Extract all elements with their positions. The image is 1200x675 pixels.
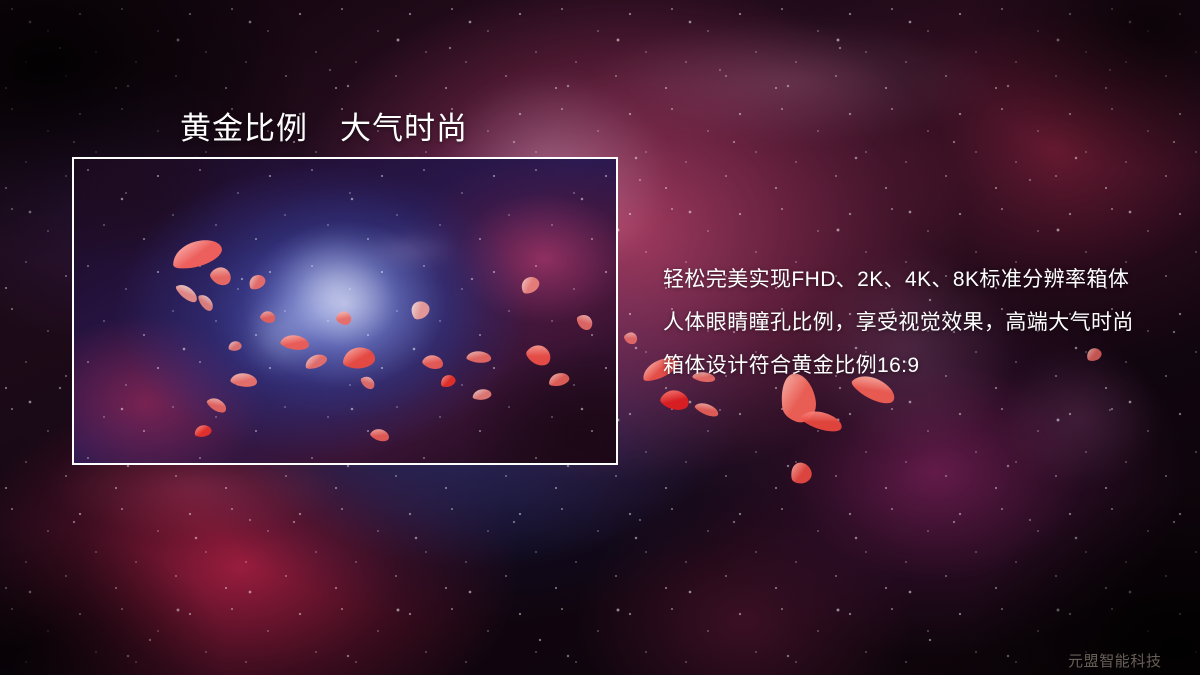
photo-content xyxy=(74,159,616,463)
watermark: 元盟智能科技 xyxy=(1068,650,1162,671)
petal xyxy=(787,459,815,487)
petal xyxy=(658,387,692,413)
petal xyxy=(798,406,845,435)
galaxy-petals-photo xyxy=(72,157,618,465)
body-line-1: 轻松完美实现FHD、2K、4K、8K标准分辨率箱体 xyxy=(663,258,1163,301)
body-text-block: 轻松完美实现FHD、2K、4K、8K标准分辨率箱体 人体眼睛瞳孔比例，享受视觉效… xyxy=(663,258,1163,387)
petal xyxy=(693,400,721,420)
petal xyxy=(622,329,640,346)
body-line-2: 人体眼睛瞳孔比例，享受视觉效果，高端大气时尚 xyxy=(663,301,1163,344)
presentation-slide: 黄金比例 大气时尚 轻松完美实现FHD、2K、4K、8K标准分辨率箱体 人体眼睛… xyxy=(0,0,1200,675)
photo-starfield-bright xyxy=(74,159,616,463)
body-line-3: 箱体设计符合黄金比例16:9 xyxy=(663,344,1163,387)
page-title: 黄金比例 大气时尚 xyxy=(180,103,468,148)
